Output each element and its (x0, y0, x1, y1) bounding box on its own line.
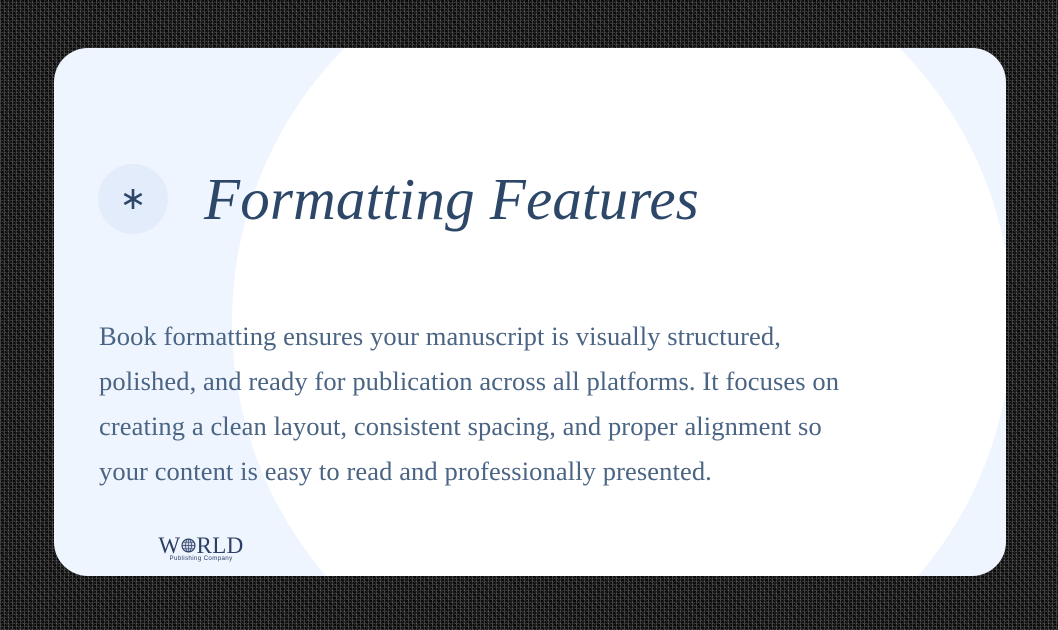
slide-card: Formatting Features Book formatting ensu… (54, 48, 1006, 576)
slide-body-text: Book formatting ensures your manuscript … (99, 314, 869, 494)
asterisk-icon (120, 186, 146, 212)
slide-content: Formatting Features Book formatting ensu… (54, 48, 1006, 576)
asterisk-badge (98, 164, 168, 234)
logo-word-part-2: RLD (196, 534, 243, 557)
brand-logo: W RLD Publishing Company (153, 535, 249, 562)
logo-word-part-1: W (158, 534, 180, 557)
globe-icon (181, 534, 196, 557)
page-title: Formatting Features (204, 170, 699, 229)
slide-header: Formatting Features (98, 130, 1006, 268)
logo-wordmark: W RLD (153, 535, 249, 555)
